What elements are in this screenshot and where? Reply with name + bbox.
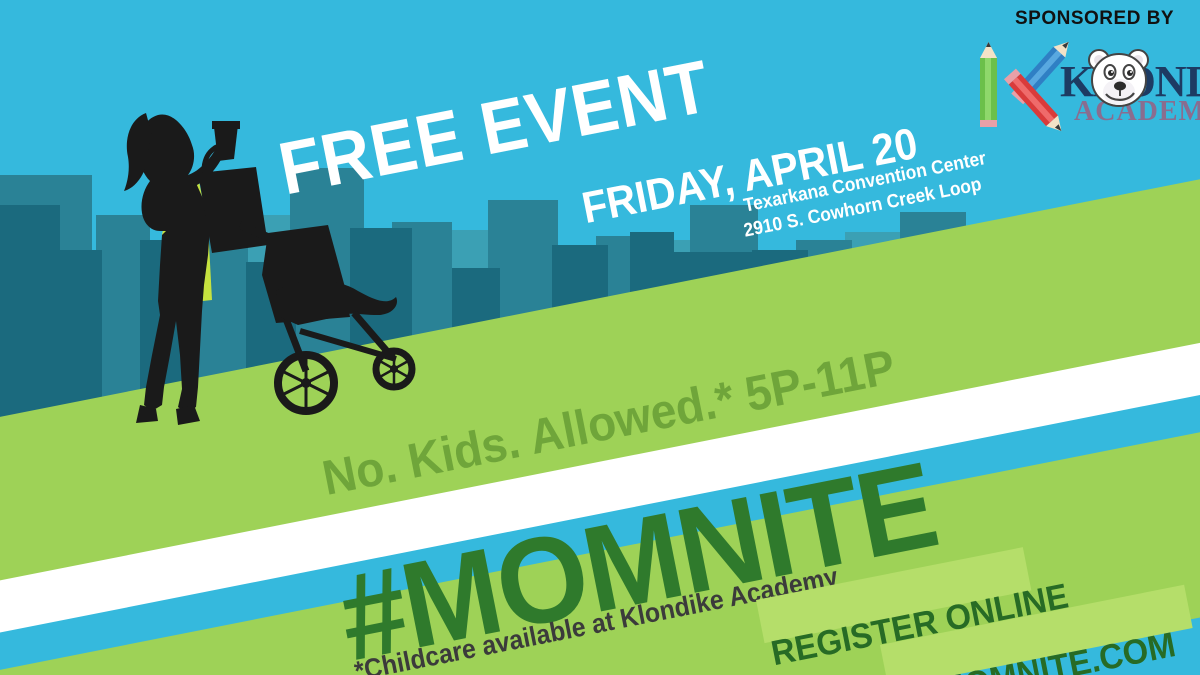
- stroller-wheel-back: [376, 351, 412, 387]
- polar-bear-mascot-icon: [1086, 44, 1152, 114]
- hair-shape: [124, 113, 152, 191]
- klondike-academy-logo: KLONDIKE ACADEMY: [962, 38, 1182, 134]
- event-poster: FREE EVENT FRIDAY, APRIL 20 Texarkana Co…: [0, 0, 1200, 675]
- stroller-wheel-front: [278, 355, 334, 411]
- mother-body: [138, 114, 210, 413]
- sponsored-by-label: SPONSORED BY: [1015, 8, 1174, 30]
- green-pencil-icon: [980, 42, 997, 127]
- baby-in-stroller: [276, 281, 397, 326]
